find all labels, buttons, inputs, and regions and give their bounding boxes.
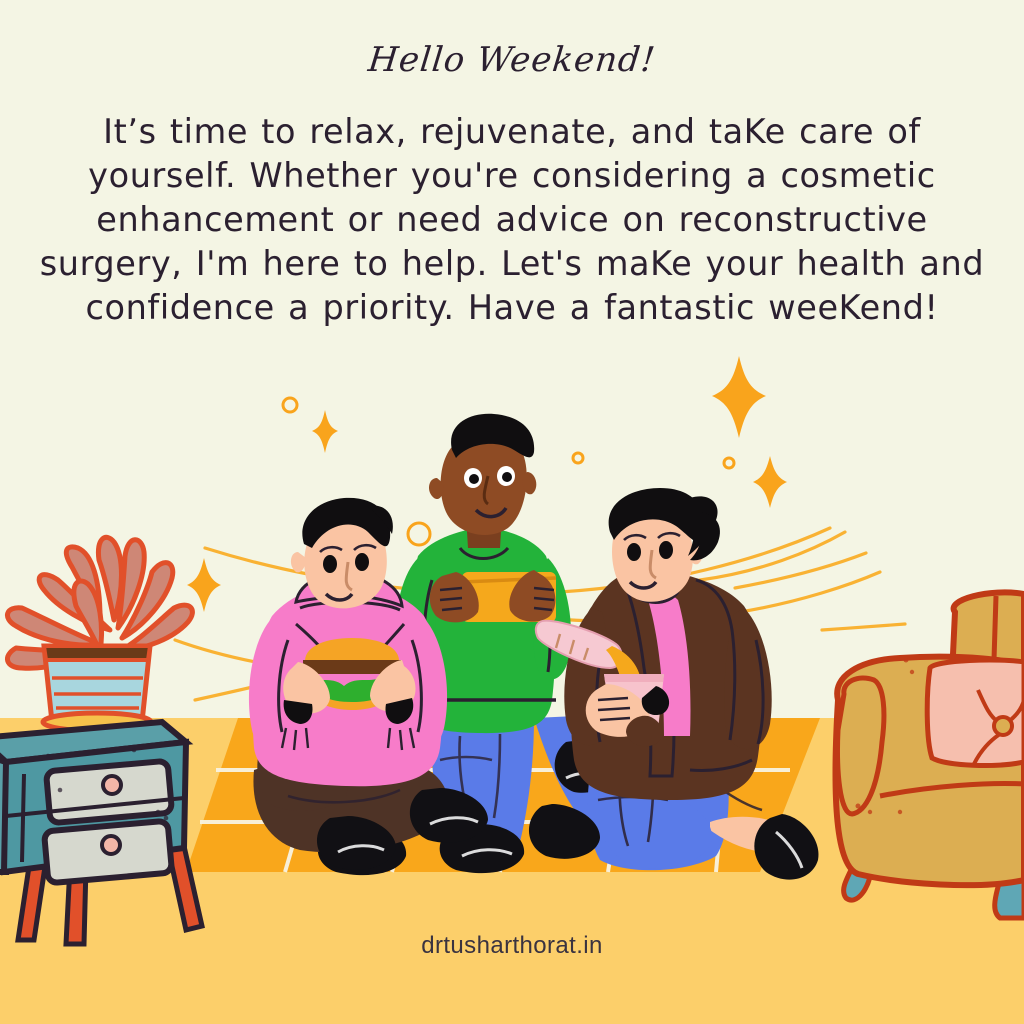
drawer-knob [103, 776, 121, 794]
armchair-cushion [927, 660, 1024, 765]
body-message: It’s time to relax, rejuvenate, and taKe… [36, 110, 988, 330]
drawer-knob [102, 836, 120, 854]
poster-canvas: Hello Weekend! It’s time to relax, rejuv… [0, 0, 1024, 1024]
page-title: Hello Weekend! [0, 40, 1024, 80]
website-url: drtusharthorat.in [0, 932, 1024, 960]
